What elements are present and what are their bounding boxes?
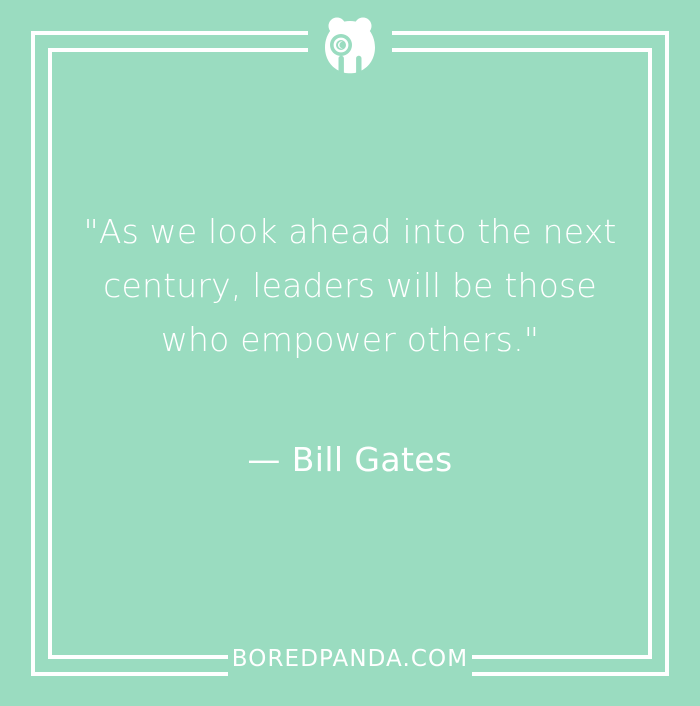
site-wordmark: BOREDPANDA.COM: [0, 645, 700, 673]
frame-outer-left-line: [31, 31, 35, 676]
frame-inner-top-right-line: [392, 48, 652, 52]
quote-text: "As we look ahead into the next century,…: [70, 205, 630, 367]
frame-inner-top-left-line: [48, 48, 308, 52]
frame-outer-top-left-line: [31, 31, 308, 35]
quote-line-2: century, leaders will be those: [70, 259, 630, 313]
quote-attribution: — Bill Gates: [70, 438, 630, 482]
quote-line-1: "As we look ahead into the next: [70, 205, 630, 259]
frame-inner-left-line: [48, 48, 52, 659]
frame-outer-top-right-line: [392, 31, 669, 35]
quote-card: "As we look ahead into the next century,…: [0, 0, 700, 706]
frame-outer-right-line: [665, 31, 669, 676]
panda-icon: [308, 14, 392, 76]
quote-line-3: who empower others.": [70, 313, 630, 367]
frame-inner-right-line: [648, 48, 652, 659]
